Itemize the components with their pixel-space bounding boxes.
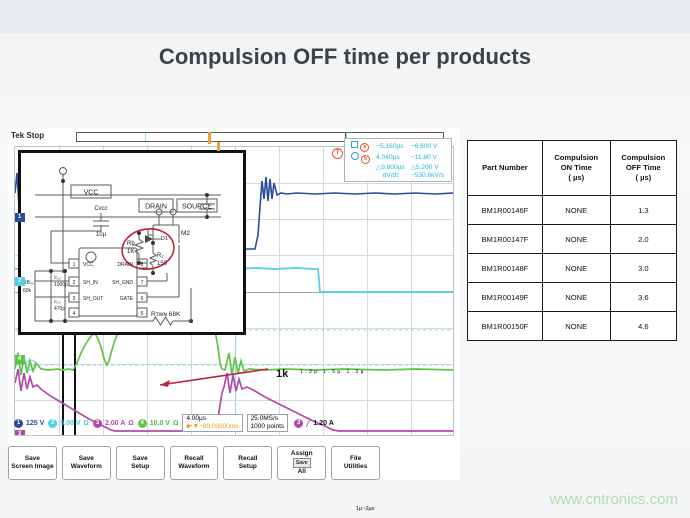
scope-status-bar: 1 125 V 2 5.00 V Ω 3 2.00 A Ω 4 10.0 V Ω… bbox=[14, 416, 454, 430]
channel-marker-3[interactable]: 3 bbox=[14, 430, 25, 436]
record-seg-window bbox=[145, 133, 347, 141]
label-rton: Rᴛᴡɴ 68K bbox=[151, 311, 181, 318]
resistor-callout-label: 1k bbox=[276, 368, 288, 380]
channel-status-3[interactable]: 3 2.00 A Ω bbox=[93, 419, 134, 428]
button-line-1: Recall bbox=[238, 455, 257, 463]
cursor-delta-volt: △5.200 V bbox=[408, 164, 447, 172]
label-c1-value: 1000p bbox=[54, 282, 68, 288]
cell-on-time: NONE bbox=[542, 225, 610, 254]
sample-rate: 25.0MS/s bbox=[251, 415, 285, 423]
slope-value: −530.6kV/s bbox=[408, 172, 447, 180]
save-waveform-button[interactable]: Save Waveform bbox=[62, 446, 111, 480]
trigger-position-marker bbox=[217, 142, 220, 151]
slide-page: Compulsion OFF time per products Tek Sto… bbox=[0, 0, 690, 518]
table-row: BM1R00148F NONE 3.0 bbox=[468, 254, 677, 283]
timebase-readout[interactable]: 4.00µs ■•▼−80.00000ms bbox=[182, 414, 242, 432]
cursor-a-badge: a bbox=[360, 143, 369, 152]
label-cvcc: Cvcc bbox=[94, 206, 107, 212]
cell-part-number: BM1R00150F bbox=[468, 312, 543, 341]
header-compulsion-on-time: Compulsion ON Time ( µs) bbox=[542, 141, 610, 196]
channel-coupling-4: Ω bbox=[173, 420, 178, 427]
file-utilities-button[interactable]: File Utilities bbox=[331, 446, 380, 480]
compulsion-time-table: Part Number Compulsion ON Time ( µs) Com… bbox=[467, 140, 677, 341]
page-title: Compulsion OFF time per products bbox=[0, 44, 690, 70]
pin-label-vcc: VCC bbox=[83, 262, 94, 268]
scope-status-label: Tek Stop bbox=[11, 131, 44, 140]
button-line-2: Utilities bbox=[344, 463, 367, 471]
callout-arrow-icon bbox=[158, 366, 283, 388]
trigger-source-badge: 3 bbox=[294, 419, 303, 428]
label-r1: Rḇ bbox=[127, 241, 135, 247]
label-r2-value: 150 bbox=[157, 261, 168, 267]
channel-coupling-2: Ω bbox=[84, 420, 89, 427]
record-points: 1000 points bbox=[251, 423, 285, 431]
cursor-a-time: −5.160µs bbox=[373, 141, 408, 152]
table-row: BM1R00147F NONE 2.0 bbox=[468, 225, 677, 254]
channel-badge-3: 3 bbox=[93, 419, 102, 428]
header-part-number: Part Number bbox=[468, 141, 543, 196]
channel-status-4[interactable]: 4 10.0 V Ω bbox=[138, 419, 179, 428]
header-line-2: ON Time bbox=[545, 163, 608, 173]
trigger-status[interactable]: 3 ╱ 1.20 A bbox=[294, 419, 334, 428]
pulse-width-labels: 1.3µ 1.5µ 1.3µ bbox=[300, 369, 366, 375]
button-line-2: Setup bbox=[239, 463, 257, 471]
site-watermark: www.cntronics.com bbox=[550, 491, 678, 508]
cell-part-number: BM1R00149F bbox=[468, 283, 543, 312]
button-line-1: Recall bbox=[184, 455, 203, 463]
cursor-a-volt: −6.600 V bbox=[408, 141, 447, 152]
channel-badge-2: 2 bbox=[48, 419, 57, 428]
label-m2: M2 bbox=[181, 230, 190, 237]
cursor-b-badge: b bbox=[361, 155, 370, 164]
button-line-1: Save bbox=[133, 455, 148, 463]
channel-scale-1: 125 V bbox=[26, 420, 44, 427]
timebase-scale: 4.00µs bbox=[186, 415, 238, 423]
channel-scale-3: 2.00 A bbox=[105, 420, 125, 427]
scope-menu-bar: Save Screen Image Save Waveform Save Set… bbox=[8, 446, 380, 480]
cell-off-time: 1.3 bbox=[610, 196, 676, 225]
header-line-3: ( µs) bbox=[613, 173, 674, 183]
trigger-level-badge: T bbox=[332, 148, 343, 159]
channel-marker-1[interactable]: 1 bbox=[14, 213, 25, 222]
button-line-2: Waveform bbox=[71, 463, 102, 471]
header-compulsion-off-time: Compulsion OFF Time ( µs) bbox=[610, 141, 676, 196]
cursor-b-volt: −11.80 V bbox=[408, 152, 447, 164]
pin-number-7: 7 bbox=[141, 280, 144, 286]
label-c2-value: 470p bbox=[54, 306, 65, 312]
width-marker-label: 1µ~2µs bbox=[356, 506, 374, 512]
header-line-3: ( µs) bbox=[545, 173, 608, 183]
cursor-readout-panel: a −5.160µs −6.600 V b 4.040µs −11.80 V △… bbox=[344, 138, 452, 182]
cell-off-time: 4.6 bbox=[610, 312, 676, 341]
label-rb-value: 60k bbox=[23, 288, 32, 294]
pin-label-shout: SH_OUT bbox=[83, 296, 103, 302]
channel-marker-2[interactable]: 2 bbox=[14, 277, 25, 286]
label-vcc: VCC bbox=[84, 190, 99, 197]
table-row: BM1R00146F NONE 1.3 bbox=[468, 196, 677, 225]
button-line-1: Save bbox=[25, 455, 40, 463]
cell-on-time: NONE bbox=[542, 283, 610, 312]
label-c2: C₁₀ bbox=[54, 299, 61, 304]
channel-status-1[interactable]: 1 125 V bbox=[14, 419, 44, 428]
header-line-1: Compulsion bbox=[613, 153, 674, 163]
recall-waveform-button[interactable]: Recall Waveform bbox=[170, 446, 219, 480]
cell-part-number: BM1R00146F bbox=[468, 196, 543, 225]
pin-number-8: 8 bbox=[141, 262, 144, 268]
channel-badge-4: 4 bbox=[138, 419, 147, 428]
pin-number-2: 2 bbox=[73, 280, 76, 286]
label-cvcc-value: 10µ bbox=[96, 232, 107, 238]
table-row: BM1R00150F NONE 4.6 bbox=[468, 312, 677, 341]
cell-part-number: BM1R00148F bbox=[468, 254, 543, 283]
table-row: BM1R00149F NONE 3.6 bbox=[468, 283, 677, 312]
cell-part-number: BM1R00147F bbox=[468, 225, 543, 254]
assign-save-to-all-button[interactable]: Assign Save All bbox=[277, 446, 326, 480]
label-c1: C₁₀ bbox=[54, 275, 61, 280]
slope-label: dV/dt bbox=[373, 172, 408, 180]
label-d1: D1 bbox=[161, 236, 168, 242]
record-trigger-marker bbox=[208, 132, 211, 144]
trigger-slope-icon: ╱ bbox=[306, 419, 310, 427]
cursor-a-icon: a bbox=[348, 141, 373, 152]
pin-label-shin: SH_IN bbox=[83, 280, 98, 286]
cursor-b-icon: b bbox=[348, 152, 373, 164]
label-r1-value: 1K bbox=[127, 249, 134, 255]
label-drain: DRAIN bbox=[145, 204, 167, 211]
header-line-2: OFF Time bbox=[613, 163, 674, 173]
timebase-offset-prefix: ■•▼ bbox=[186, 423, 199, 430]
button-line-1: Assign bbox=[291, 450, 313, 458]
pin-label-shgnd: SH_GND bbox=[112, 280, 133, 286]
table-header-row: Part Number Compulsion ON Time ( µs) Com… bbox=[468, 141, 677, 196]
cell-off-time: 3.6 bbox=[610, 283, 676, 312]
cell-on-time: NONE bbox=[542, 254, 610, 283]
channel-scale-2: 5.00 V bbox=[60, 420, 80, 427]
save-screen-image-button[interactable]: Save Screen Image bbox=[8, 446, 57, 480]
pin-number-1: 1 bbox=[73, 262, 76, 268]
button-line-2: Screen Image bbox=[11, 463, 53, 471]
save-chip-icon: Save bbox=[293, 458, 311, 468]
button-line-2: Waveform bbox=[178, 463, 209, 471]
channel-badge-1: 1 bbox=[14, 419, 23, 428]
pin-number-3: 3 bbox=[73, 296, 76, 302]
record-seg-left bbox=[77, 133, 146, 141]
cell-on-time: NONE bbox=[542, 312, 610, 341]
acquisition-readout[interactable]: 25.0MS/s 1000 points bbox=[247, 414, 289, 432]
schematic-overlay: VCC DRAIN SOURCE Cvcc 10µ M2 D1 Rḇ 1K R₂… bbox=[18, 150, 246, 335]
cell-on-time: NONE bbox=[542, 196, 610, 225]
oscilloscope-capture: Tek Stop bbox=[8, 128, 460, 480]
pin-number-4: 4 bbox=[73, 311, 76, 317]
timebase-offset: −80.00000ms bbox=[199, 423, 239, 430]
pin-label-drain: DRAIN bbox=[117, 262, 133, 268]
button-line-3: All bbox=[298, 468, 306, 476]
cursor-delta-time: △9.800µs bbox=[373, 164, 408, 172]
button-line-2: Setup bbox=[131, 463, 149, 471]
channel-marker-4[interactable]: 4 bbox=[14, 355, 25, 364]
cell-off-time: 2.0 bbox=[610, 225, 676, 254]
trigger-level: 1.20 A bbox=[313, 420, 333, 427]
pin-label-gate: GATE bbox=[120, 296, 134, 302]
channel-coupling-3: Ω bbox=[128, 420, 133, 427]
label-source: SOURCE bbox=[182, 204, 212, 211]
cell-off-time: 3.0 bbox=[610, 254, 676, 283]
save-setup-button[interactable]: Save Setup bbox=[116, 446, 165, 480]
channel-scale-4: 10.0 V bbox=[150, 420, 170, 427]
cursor-b-time: 4.040µs bbox=[373, 152, 408, 164]
button-line-1: File bbox=[350, 455, 361, 463]
channel-status-2[interactable]: 2 5.00 V Ω bbox=[48, 419, 89, 428]
recall-setup-button[interactable]: Recall Setup bbox=[223, 446, 272, 480]
button-line-1: Save bbox=[79, 455, 94, 463]
pin-number-5: 5 bbox=[141, 311, 144, 317]
label-r2: R₂ bbox=[157, 253, 164, 259]
top-band bbox=[0, 0, 690, 33]
pin-number-6: 6 bbox=[141, 296, 144, 302]
header-line-1: Compulsion bbox=[545, 153, 608, 163]
